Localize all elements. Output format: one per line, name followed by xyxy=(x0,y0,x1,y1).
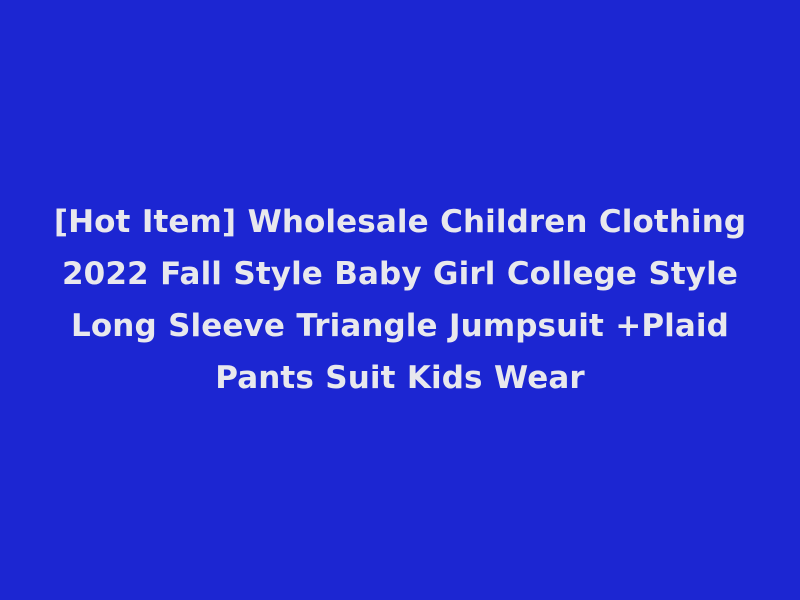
product-title: [Hot Item] Wholesale Children Clothing 2… xyxy=(50,196,750,404)
title-block: [Hot Item] Wholesale Children Clothing 2… xyxy=(50,196,750,404)
product-placeholder-card: [Hot Item] Wholesale Children Clothing 2… xyxy=(0,0,800,600)
